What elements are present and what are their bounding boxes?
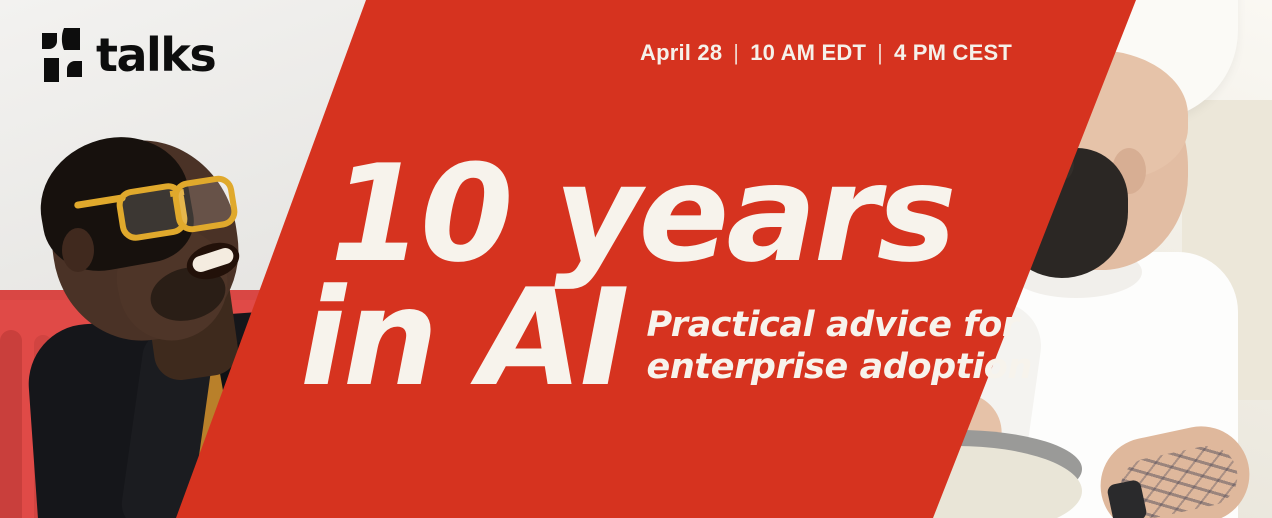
brand-logo[interactable]: talks: [42, 28, 215, 82]
event-datetime: April 28 | 10 AM EDT | 4 PM CEST: [640, 40, 1012, 66]
event-subtitle: Practical advice for enterprise adoption: [647, 305, 1032, 404]
event-subtitle-line-1: Practical advice for: [647, 305, 1032, 346]
headline-line-2: in AI: [300, 274, 627, 404]
event-date: April 28: [640, 40, 722, 66]
meta-separator: |: [877, 40, 883, 66]
headline-block: 10 years in AI Practical advice for ente…: [300, 150, 1032, 404]
talks-logo-mark-icon: [42, 28, 82, 82]
event-time-cest: 4 PM CEST: [894, 40, 1012, 66]
event-time-edt: 10 AM EDT: [750, 40, 866, 66]
webinar-banner: talks April 28 | 10 AM EDT | 4 PM CEST 1…: [0, 0, 1272, 518]
brand-wordmark: talks: [96, 32, 215, 78]
event-subtitle-line-2: enterprise adoption: [647, 347, 1032, 388]
speaker-ear: [62, 228, 94, 272]
meta-separator: |: [733, 40, 739, 66]
headline-subtitle-row: in AI Practical advice for enterprise ad…: [300, 274, 1032, 404]
sofa-rib: [0, 330, 22, 518]
glasses-lens-right: [170, 173, 239, 234]
